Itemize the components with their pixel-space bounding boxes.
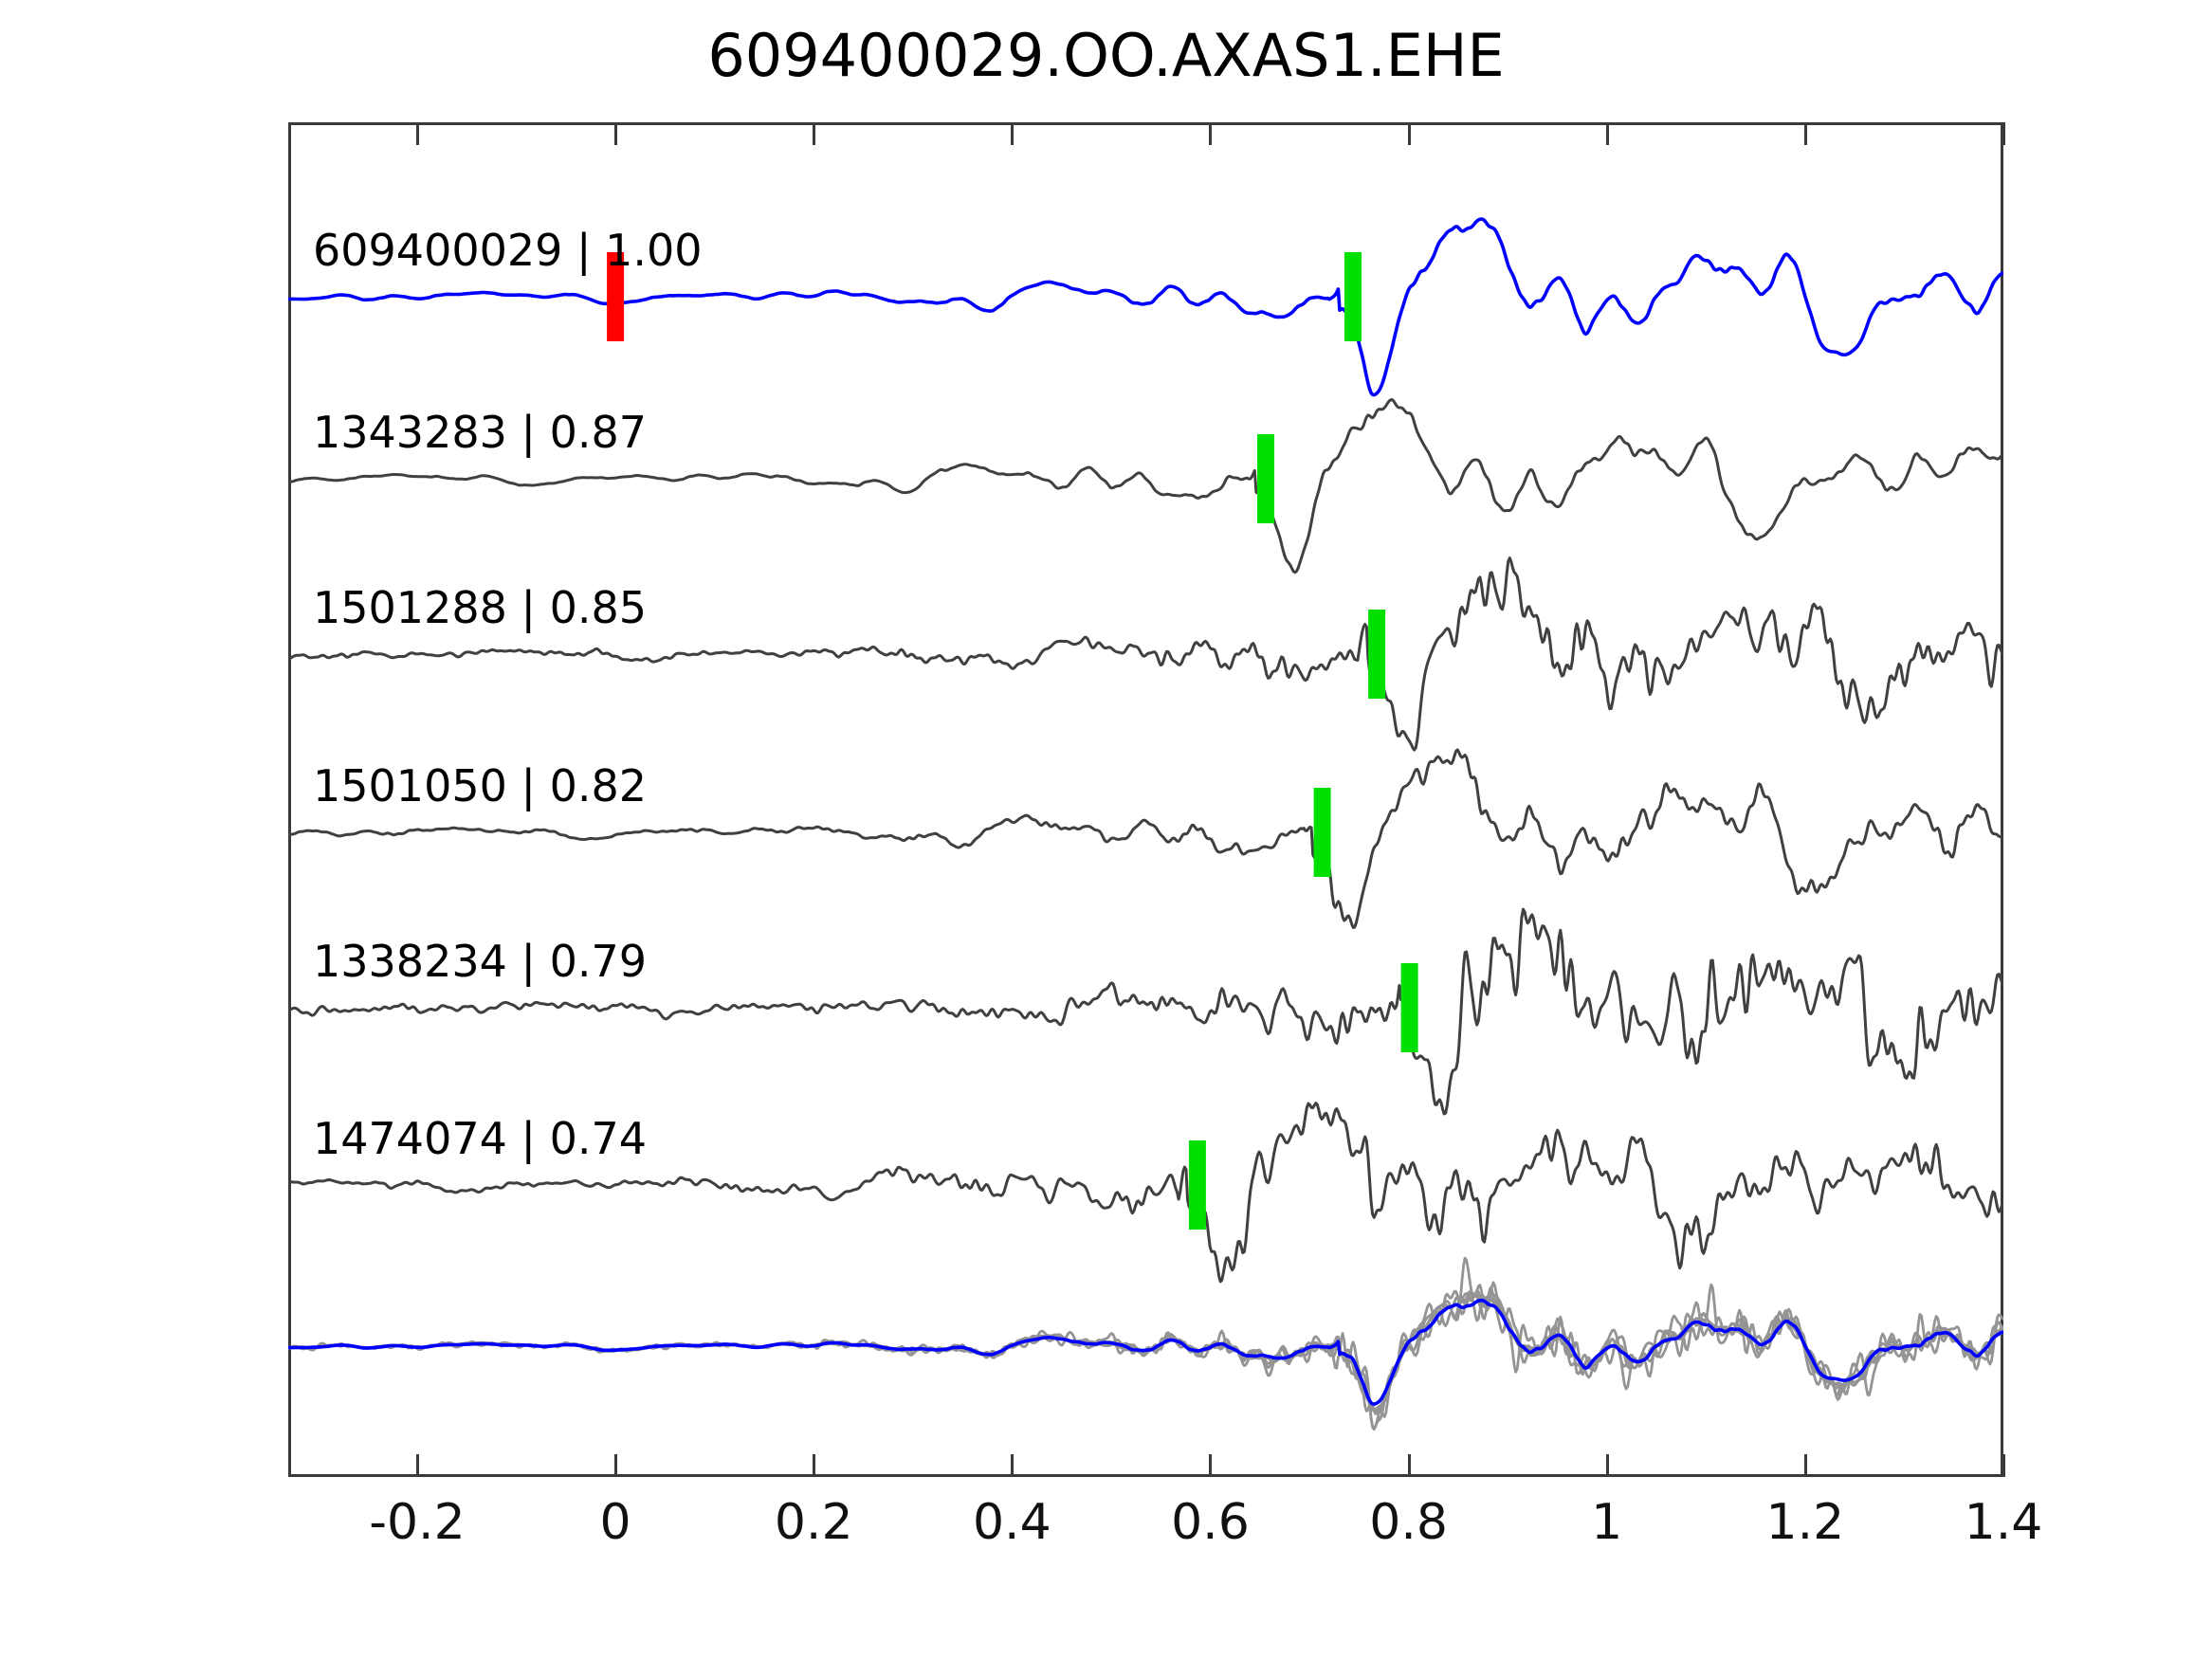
x-tick-mark [1408, 1454, 1411, 1477]
figure-root: 609400029.OO.AXAS1.EHE 609400029 | 1.001… [0, 0, 2212, 1659]
x-tick-mark-top [1408, 122, 1411, 145]
x-tick-label-0.2: 0.2 [775, 1498, 853, 1547]
pick-marker-1501050 [1314, 788, 1331, 877]
x-tick-mark-top [1804, 122, 1807, 145]
x-tick-mark-top [813, 122, 815, 145]
pick-marker-1474074 [1189, 1140, 1206, 1230]
x-tick-mark-top [1209, 122, 1212, 145]
x-tick-mark-top [1011, 122, 1014, 145]
x-tick-label--0.2: -0.2 [369, 1498, 465, 1547]
x-tick-mark [614, 1454, 617, 1477]
x-tick-label-1: 1 [1591, 1498, 1622, 1547]
overlay-gray-trace [288, 1290, 2003, 1429]
pick-marker-1343283 [1257, 434, 1274, 523]
overlay-gray-trace [288, 1285, 2003, 1430]
x-tick-mark [2002, 1454, 2005, 1477]
x-tick-mark [1011, 1454, 1014, 1477]
trace-label-1501050: 1501050 | 0.82 [313, 764, 647, 808]
pick-marker-1501288 [1368, 610, 1385, 699]
x-tick-label-1.2: 1.2 [1766, 1498, 1845, 1547]
x-tick-mark [1804, 1454, 1807, 1477]
x-tick-mark-top [2002, 122, 2005, 145]
trace-label-1338234: 1338234 | 0.79 [313, 939, 647, 983]
overlay-gray-trace [288, 1258, 2003, 1416]
x-tick-mark [813, 1454, 815, 1477]
pick-marker-1338234 [1401, 963, 1418, 1052]
pick-marker-secondary-609400029 [1344, 252, 1362, 341]
x-tick-mark-top [1606, 122, 1609, 145]
x-tick-label-0.4: 0.4 [973, 1498, 1051, 1547]
x-tick-mark-top [614, 122, 617, 145]
x-tick-label-0.6: 0.6 [1171, 1498, 1250, 1547]
trace-label-609400029: 609400029 | 1.00 [313, 228, 703, 272]
x-tick-label-1.4: 1.4 [1965, 1498, 2043, 1547]
page-title: 609400029.OO.AXAS1.EHE [0, 21, 2212, 90]
x-tick-mark-top [416, 122, 419, 145]
trace-label-1343283: 1343283 | 0.87 [313, 410, 647, 454]
x-tick-mark [1209, 1454, 1212, 1477]
x-tick-label-0: 0 [600, 1498, 631, 1547]
trace-label-1474074: 1474074 | 0.74 [313, 1117, 647, 1160]
x-tick-mark [1606, 1454, 1609, 1477]
x-tick-label-0.8: 0.8 [1369, 1498, 1448, 1547]
trace-label-1501288: 1501288 | 0.85 [313, 586, 647, 629]
x-tick-mark [416, 1454, 419, 1477]
